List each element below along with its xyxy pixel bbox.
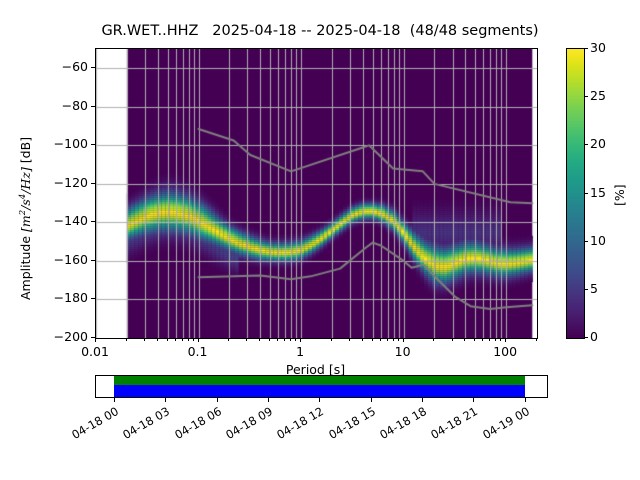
timeline-coverage[interactable] <box>95 375 548 398</box>
ppsd-figure: GR.WET..HHZ 2025-04-18 -- 2025-04-18 (48… <box>0 0 640 480</box>
ppsd-density-canvas <box>96 49 537 338</box>
timeline-tick-mark <box>422 398 423 402</box>
x-tick-mark-minor <box>387 338 388 341</box>
y-axis-exp-4: 4 <box>18 194 28 199</box>
colorbar-tick-mark <box>584 241 588 242</box>
timeline-data-bar <box>114 376 525 385</box>
colorbar-tick-label: 25 <box>590 88 606 103</box>
colorbar-tick-label: 20 <box>590 136 606 151</box>
x-tick-label: 100 <box>475 344 535 359</box>
y-tick-label: −200 <box>54 329 88 344</box>
x-tick-label: 0.1 <box>168 344 228 359</box>
timeline-tick-mark <box>525 398 526 402</box>
timeline-used-bar <box>114 385 525 397</box>
x-tick-mark-major <box>95 338 96 342</box>
x-tick-mark-minor <box>380 338 381 341</box>
x-tick-mark-minor <box>295 338 296 341</box>
x-tick-mark-minor <box>372 338 373 341</box>
colorbar-tick-mark <box>584 193 588 194</box>
x-tick-mark-minor <box>188 338 189 341</box>
x-tick-mark-minor <box>362 338 363 341</box>
x-tick-mark-major <box>403 338 404 342</box>
colorbar-tick-label: 30 <box>590 40 606 55</box>
colorbar-tick-label: 5 <box>590 281 598 296</box>
x-tick-mark-minor <box>349 338 350 341</box>
x-tick-mark-major <box>300 338 301 342</box>
x-tick-mark-minor <box>331 338 332 341</box>
y-tick-label: −140 <box>54 213 88 228</box>
x-tick-mark-minor <box>259 338 260 341</box>
colorbar-gradient <box>567 49 584 338</box>
x-tick-mark-minor <box>193 338 194 341</box>
x-tick-mark-minor <box>452 338 453 341</box>
timeline-tick-mark <box>165 398 166 402</box>
x-tick-mark-minor <box>464 338 465 341</box>
x-tick-mark-minor <box>126 338 127 341</box>
timeline-tick-mark <box>473 398 474 402</box>
y-axis-unit-close: /Hz] <box>18 167 33 194</box>
colorbar-tick-label: 15 <box>590 185 606 200</box>
colorbar-tick-label: 0 <box>590 329 598 344</box>
colorbar-tick-mark <box>584 337 588 338</box>
x-tick-mark-minor <box>482 338 483 341</box>
y-axis-label-math: [m2/s4/Hz] <box>18 167 33 232</box>
colorbar[interactable] <box>566 48 585 339</box>
colorbar-tick-mark <box>584 289 588 290</box>
y-axis-unit-open: [m <box>18 215 33 232</box>
x-tick-mark-minor <box>175 338 176 341</box>
x-tick-mark-minor <box>489 338 490 341</box>
x-tick-mark-minor <box>500 338 501 341</box>
colorbar-tick-mark <box>584 96 588 97</box>
timeline-tick-mark <box>217 398 218 402</box>
x-tick-mark-major <box>505 338 506 342</box>
y-axis-exp-2: 2 <box>18 210 28 215</box>
y-tick-label: −60 <box>62 59 88 74</box>
x-tick-mark-minor <box>393 338 394 341</box>
x-tick-label: 10 <box>373 344 433 359</box>
colorbar-tick-mark <box>584 48 588 49</box>
y-axis-label-prefix: Amplitude <box>18 232 33 300</box>
y-tick-label: −80 <box>62 98 88 113</box>
x-tick-mark-minor <box>277 338 278 341</box>
x-tick-mark-minor <box>536 338 537 341</box>
x-tick-mark-minor <box>433 338 434 341</box>
x-tick-mark-minor <box>284 338 285 341</box>
timeline-tick-mark <box>114 398 115 402</box>
x-tick-mark-major <box>198 338 199 342</box>
x-tick-mark-minor <box>246 338 247 341</box>
timeline-tick-mark <box>268 398 269 402</box>
x-tick-mark-minor <box>228 338 229 341</box>
colorbar-tick-mark <box>584 144 588 145</box>
x-tick-mark-minor <box>157 338 158 341</box>
x-tick-mark-minor <box>182 338 183 341</box>
plot-title: GR.WET..HHZ 2025-04-18 -- 2025-04-18 (48… <box>0 23 640 39</box>
x-tick-label: 0.01 <box>65 344 125 359</box>
x-tick-mark-minor <box>144 338 145 341</box>
x-tick-mark-minor <box>474 338 475 341</box>
x-tick-mark-minor <box>269 338 270 341</box>
x-tick-mark-minor <box>495 338 496 341</box>
x-tick-mark-minor <box>398 338 399 341</box>
y-tick-label: −120 <box>54 175 88 190</box>
colorbar-label: [%] <box>612 184 627 206</box>
ppsd-plot-area[interactable] <box>95 48 538 339</box>
x-tick-mark-minor <box>167 338 168 341</box>
x-tick-label: 1 <box>270 344 330 359</box>
y-tick-label: −180 <box>54 290 88 305</box>
timeline-tick-mark <box>371 398 372 402</box>
y-tick-label: −100 <box>54 136 88 151</box>
y-axis-label-unit: [dB] <box>18 137 33 167</box>
x-tick-mark-minor <box>290 338 291 341</box>
timeline-tick-mark <box>319 398 320 402</box>
colorbar-tick-label: 10 <box>590 233 606 248</box>
y-tick-label: −160 <box>54 252 88 267</box>
y-axis-label: Amplitude [m2/s4/Hz] [dB] <box>18 137 33 300</box>
y-axis-unit-mid: /s <box>18 199 33 210</box>
